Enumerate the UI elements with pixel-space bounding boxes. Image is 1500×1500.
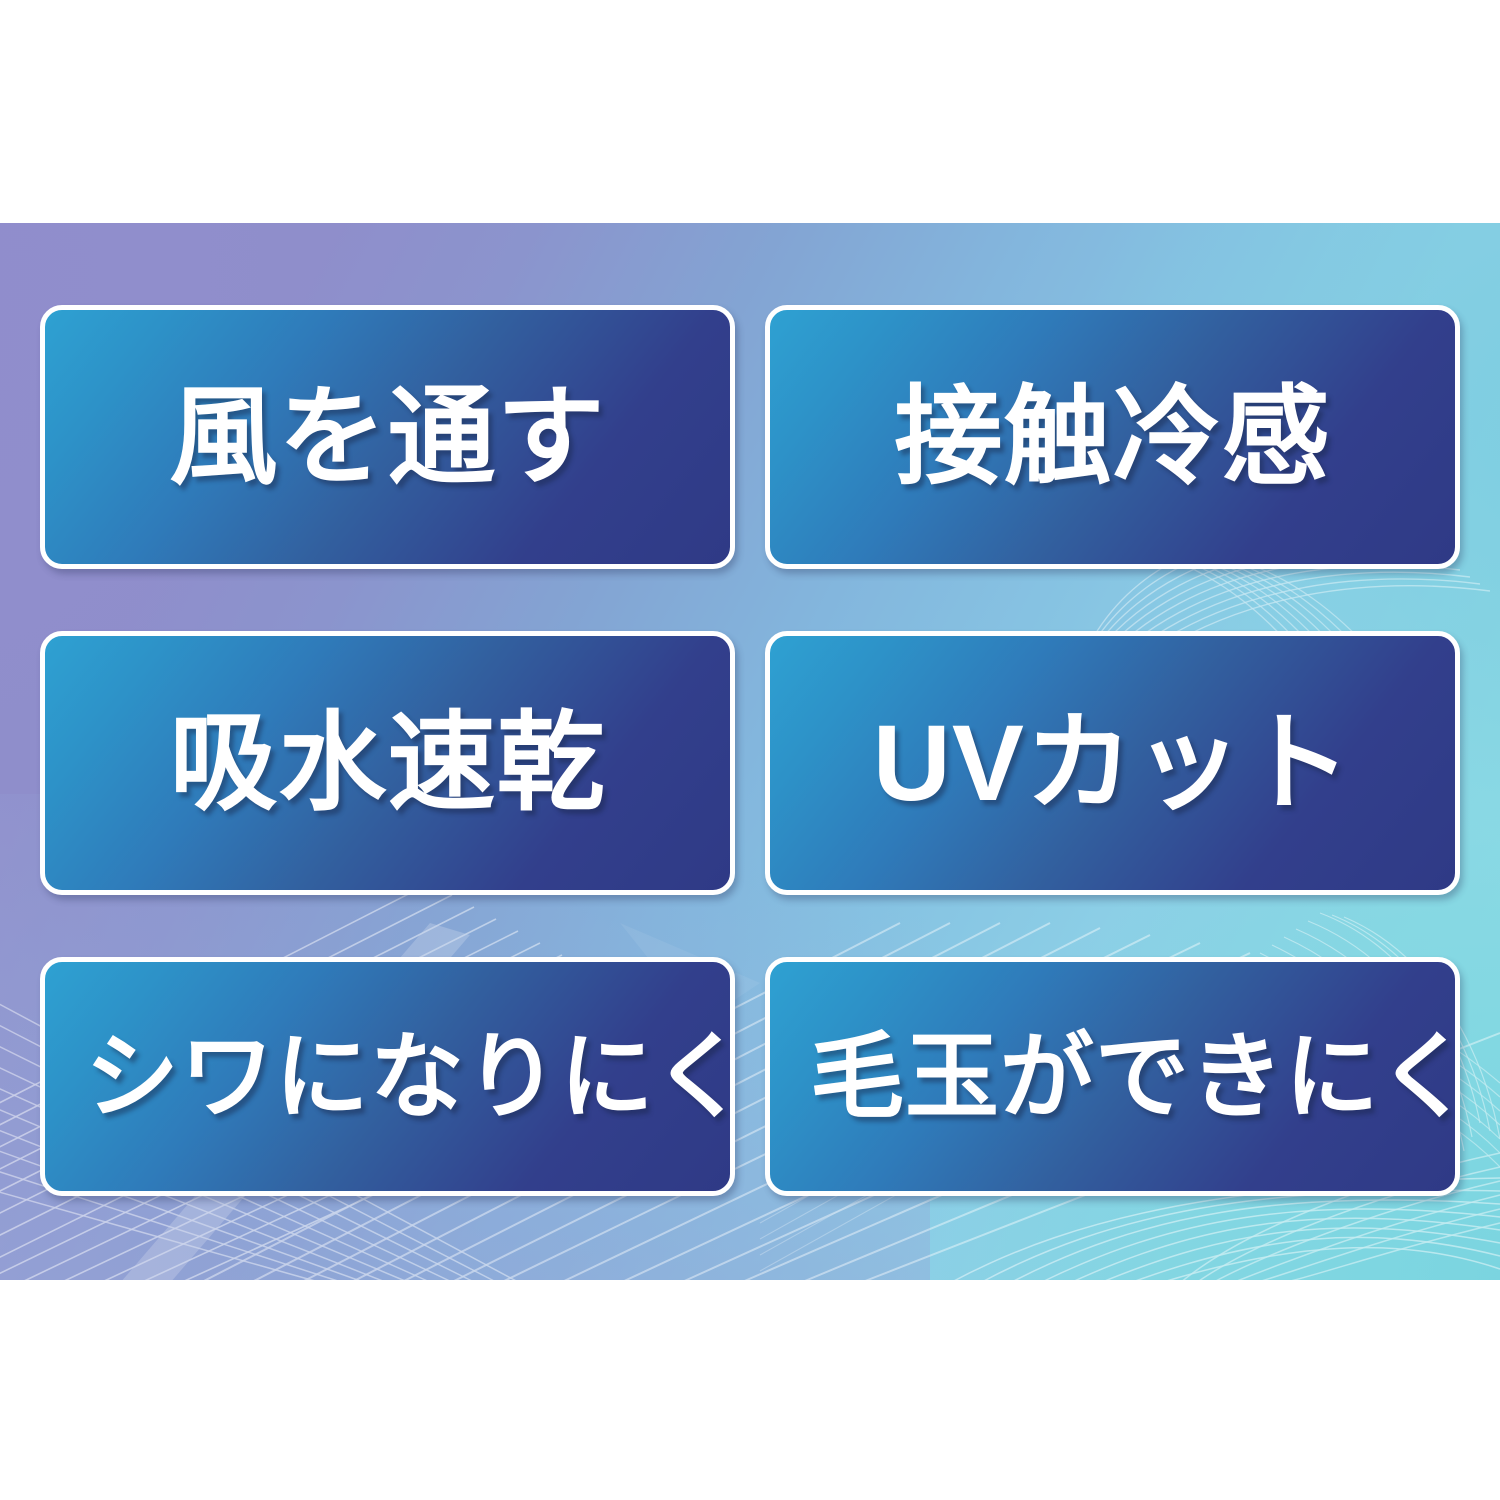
feature-card-label: シワになりにくい	[45, 1030, 730, 1124]
feature-card-label: 風を通す	[45, 383, 730, 491]
feature-card-uv-cut[interactable]: UVカット	[765, 631, 1460, 895]
feature-card-label: 接触冷感	[770, 383, 1455, 491]
feature-card-label: UVカット	[770, 709, 1455, 817]
feature-card-cool-touch[interactable]: 接触冷感	[765, 305, 1460, 569]
feature-card-quick-dry[interactable]: 吸水速乾	[40, 631, 735, 895]
feature-card-breathable[interactable]: 風を通す	[40, 305, 735, 569]
poster-canvas: 風を通す 接触冷感 吸水速乾 UVカット シワになりにくい 毛玉ができにくい	[0, 0, 1500, 1500]
feature-card-label: 毛玉ができにくい	[770, 1030, 1455, 1124]
feature-card-wrinkle-free[interactable]: シワになりにくい	[40, 957, 735, 1196]
feature-card-label: 吸水速乾	[45, 709, 730, 817]
feature-card-anti-pilling[interactable]: 毛玉ができにくい	[765, 957, 1460, 1196]
feature-card-grid: 風を通す 接触冷感 吸水速乾 UVカット シワになりにくい 毛玉ができにくい	[40, 305, 1460, 1195]
